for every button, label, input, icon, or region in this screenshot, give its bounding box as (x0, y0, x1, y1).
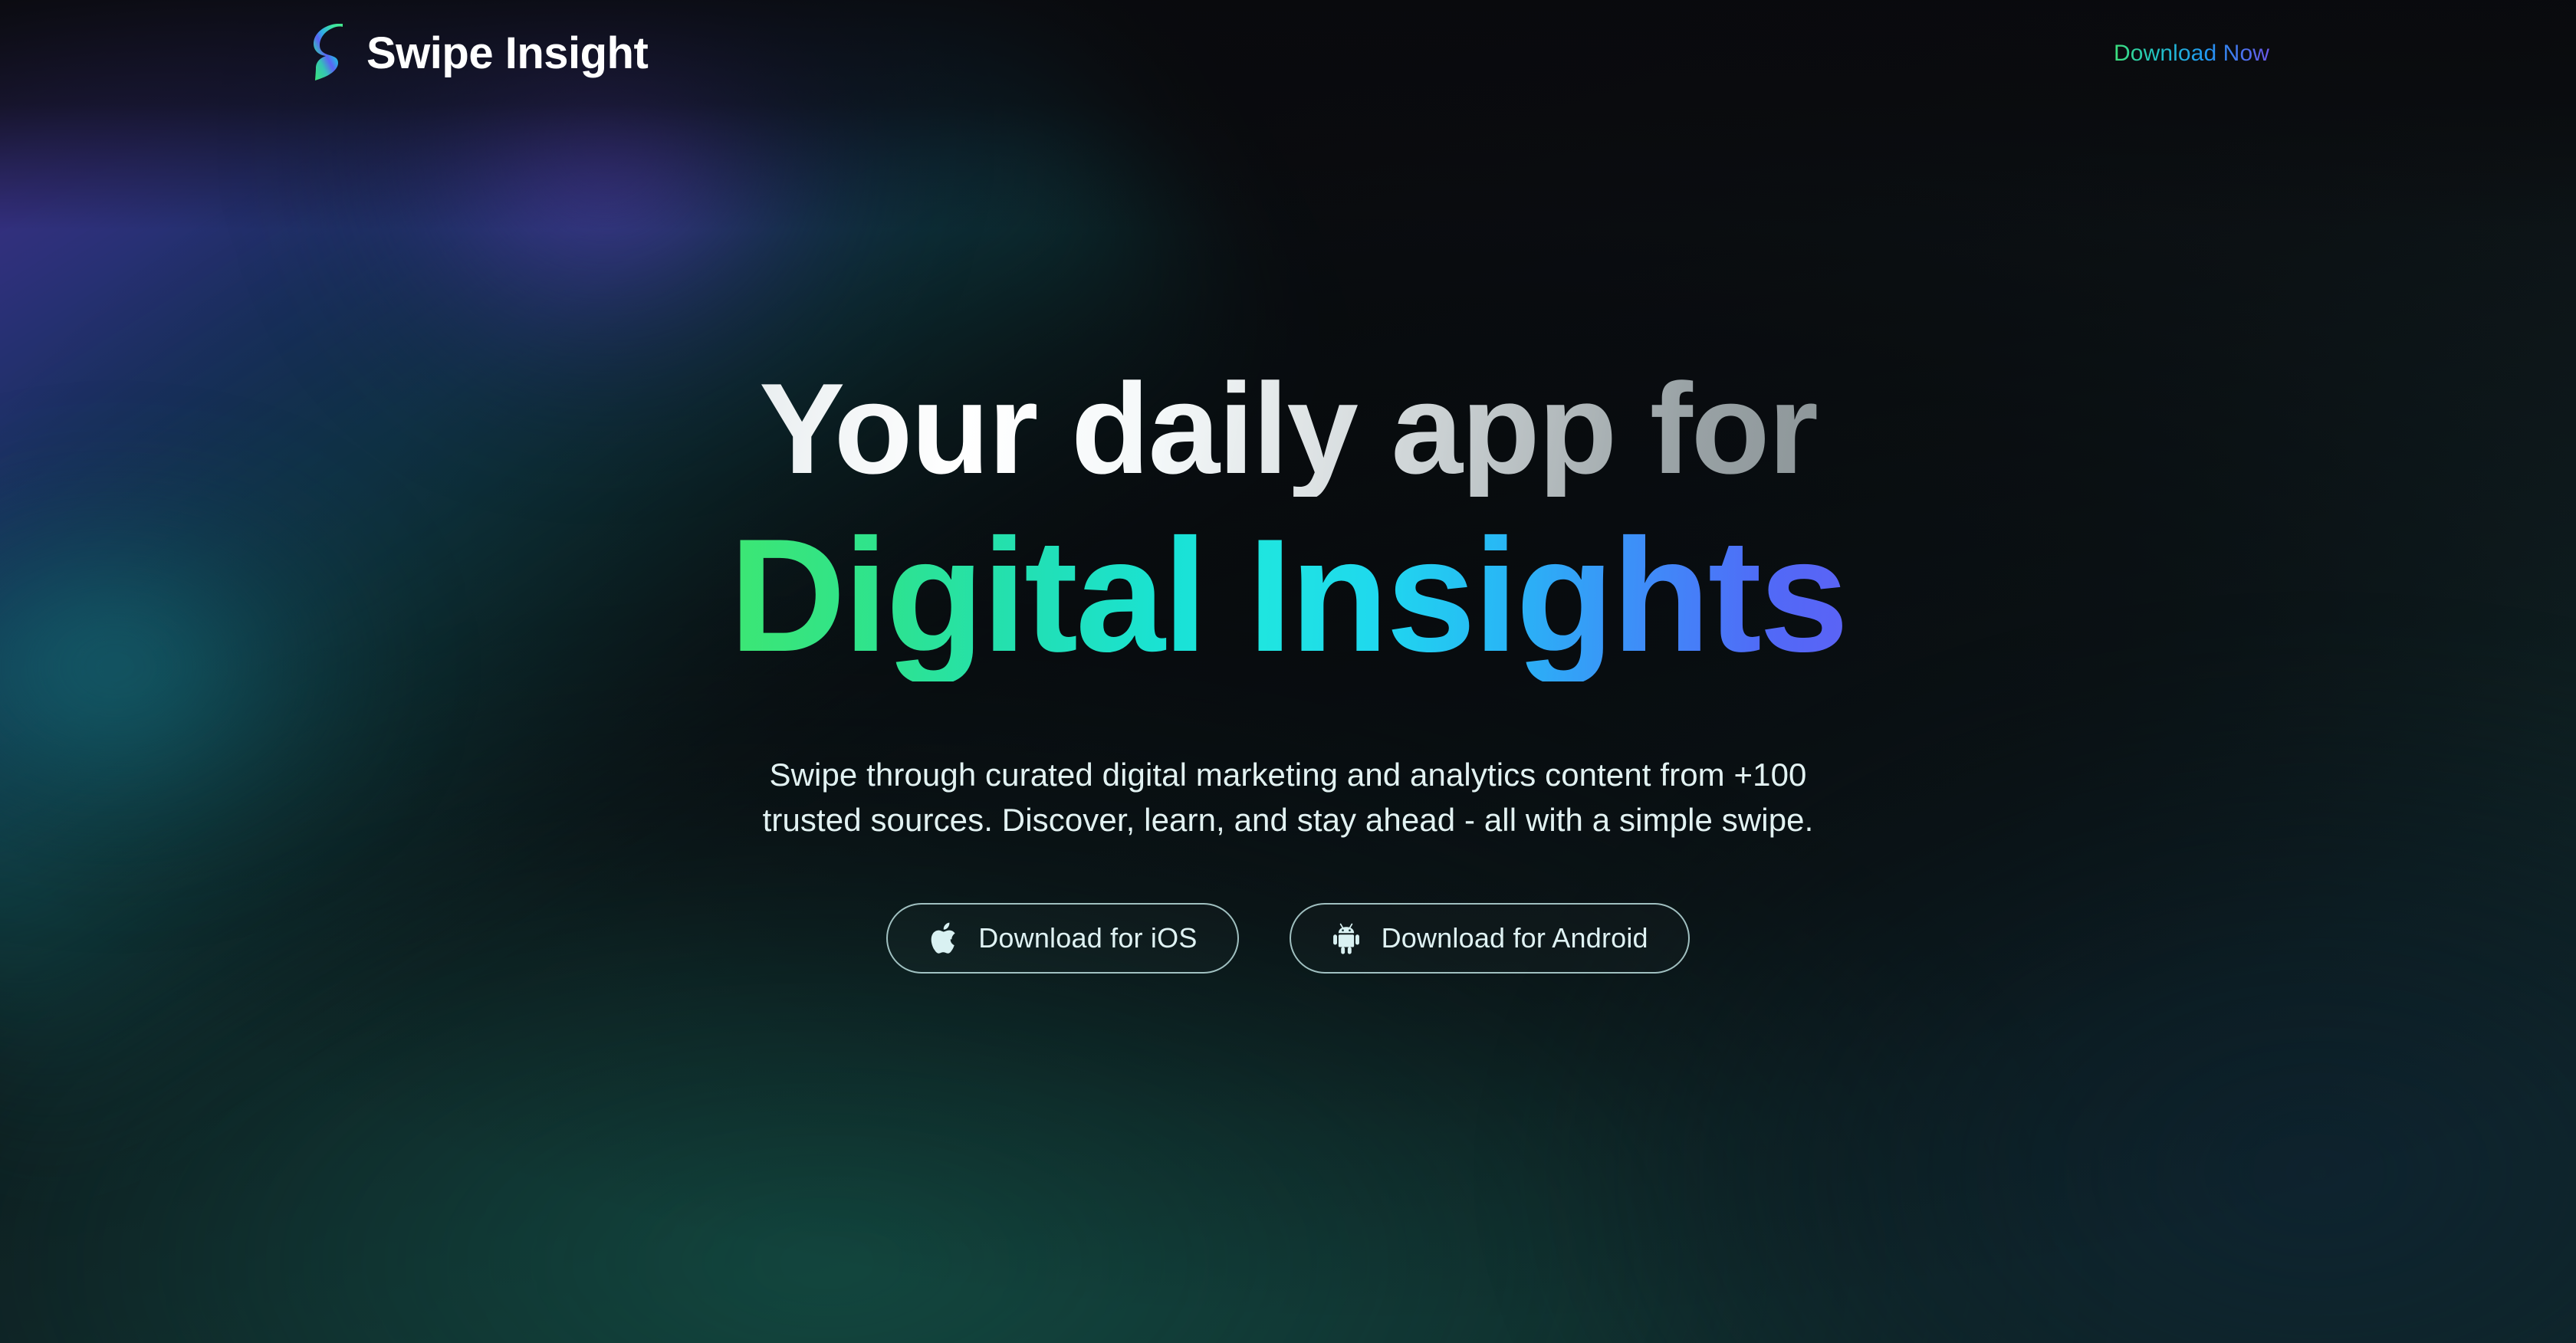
download-ios-label: Download for iOS (978, 922, 1197, 954)
download-android-label: Download for Android (1382, 922, 1648, 954)
hero-download-buttons: Download for iOS (886, 903, 1690, 974)
android-icon (1331, 921, 1362, 955)
download-ios-button[interactable]: Download for iOS (886, 903, 1238, 974)
hero-headline-line-2: Digital Insights (729, 511, 1846, 681)
hero-section: Your daily app for Digital Insights Swip… (0, 0, 2576, 1343)
download-android-button[interactable]: Download for Android (1290, 903, 1690, 974)
hero-subtitle: Swipe through curated digital marketing … (744, 752, 1832, 843)
hero-headline-line-1: Your daily app for (759, 360, 1817, 497)
apple-icon (928, 921, 958, 956)
landing-page: Swipe Insight Download Now Your daily ap… (0, 0, 2576, 1343)
